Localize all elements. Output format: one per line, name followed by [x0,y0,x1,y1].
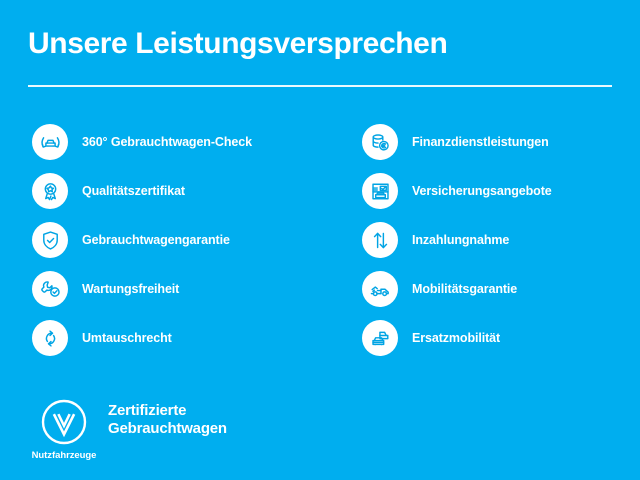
benefits-column-right: Finanzdienstleistungen Versicherungsange… [362,124,640,369]
benefit-label: 360° Gebrauchtwagen-Check [82,135,252,149]
benefit-label: Finanzdienstleistungen [412,135,549,149]
benefit-item-quality-certificate: Qualitätszertifikat [32,173,332,209]
benefit-label: Wartungsfreiheit [82,282,179,296]
benefit-label: Gebrauchtwagengarantie [82,233,230,247]
wrench-check-icon [32,271,68,307]
benefit-item-mobility-guarantee: Mobilitätsgarantie [362,271,640,307]
brand-claim-line-2: Gebrauchtwagen [108,420,227,438]
benefit-label: Umtauschrecht [82,331,172,345]
benefits-column-left: 360° Gebrauchtwagen-Check Qualitätszerti… [32,124,332,369]
benefit-item-used-car-warranty: Gebrauchtwagengarantie [32,222,332,258]
brand-subtitle: Nutzfahrzeuge [32,450,97,461]
coins-euro-icon [362,124,398,160]
benefit-item-trade-in: Inzahlungnahme [362,222,640,258]
benefit-label: Mobilitätsgarantie [412,282,517,296]
benefit-item-right-of-exchange: Umtauschrecht [32,320,332,356]
brand-block: Nutzfahrzeuge Zertifizierte Gebrauchtwag… [28,398,227,461]
benefit-item-maintenance-free: Wartungsfreiheit [32,271,332,307]
benefit-label: Versicherungsangebote [412,184,552,198]
page-title: Unsere Leistungsversprechen [28,27,447,60]
benefit-label: Inzahlungnahme [412,233,509,247]
benefit-item-replacement-mobility: Ersatzmobilität [362,320,640,356]
arrows-up-down-icon [362,222,398,258]
benefit-label: Qualitätszertifikat [82,184,185,198]
vw-roundel-logo [40,398,88,446]
brand-claim: Zertifizierte Gebrauchtwagen [108,402,227,439]
brand-logo-wrap: Nutzfahrzeuge [28,398,100,461]
brand-claim-line-1: Zertifizierte [108,402,227,420]
benefit-item-insurance-offers: Versicherungsangebote [362,173,640,209]
car-360-check-icon [32,124,68,160]
benefit-item-360-check: 360° Gebrauchtwagen-Check [32,124,332,160]
slide-root: Unsere Leistungsversprechen 360° Gebrauc… [0,0,640,480]
two-cars-icon [362,320,398,356]
tow-truck-icon [362,271,398,307]
title-divider [28,85,612,87]
document-checkbox-car-icon [362,173,398,209]
benefit-label: Ersatzmobilität [412,331,500,345]
exchange-arrows-icon [32,320,68,356]
benefit-item-financial-services: Finanzdienstleistungen [362,124,640,160]
shield-check-icon [32,222,68,258]
award-rosette-icon [32,173,68,209]
